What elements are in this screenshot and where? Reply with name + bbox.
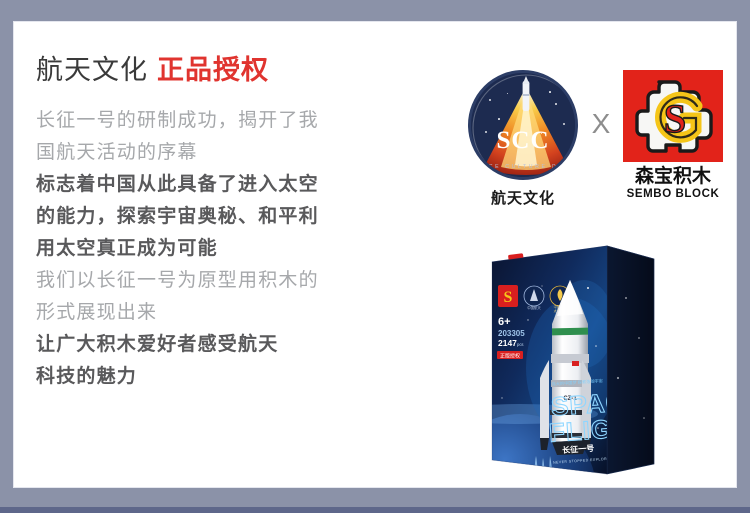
page-title-main: 航天文化	[36, 55, 148, 85]
bottom-band	[0, 507, 750, 513]
scc-monogram: SCC	[471, 127, 575, 155]
box-item-no: 203305	[498, 329, 525, 338]
sembo-logo: S 森宝积木 SEMBO BLOCK	[614, 70, 732, 200]
text-column: 航天文化正品授权 长征一号的研制成功，揭开了我 国航天活动的序幕 标志着中国从此…	[36, 54, 436, 393]
product-box-image: SPACE FLIGHT	[476, 228, 671, 490]
outer-frame: 航天文化正品授权 长征一号的研制成功，揭开了我 国航天活动的序幕 标志着中国从此…	[0, 0, 750, 513]
paragraph-line: 科技的魅力	[36, 361, 436, 393]
scc-caption: 航天文化	[464, 187, 582, 208]
sembo-name-cn: 森宝积木	[614, 167, 732, 187]
paragraph-line: 让广大积木爱好者感受航天	[36, 329, 436, 361]
sembo-name-en: SEMBO BLOCK	[614, 188, 732, 200]
box-authorized-badge: 正版授权	[500, 352, 520, 359]
product-box-svg: SPACE FLIGHT	[476, 228, 671, 490]
scc-emblem-icon: SCC SPACE CULTURE OF CHINA	[468, 70, 578, 180]
paragraph-2: 标志着中国从此具备了进入太空 的能力，探索宇宙奥秘、和平利 用太空真正成为可能	[36, 169, 436, 265]
paragraph-line: 标志着中国从此具备了进入太空	[36, 169, 436, 201]
paragraph-line: 形式展现出来	[36, 297, 436, 329]
logo-row: SCC SPACE CULTURE OF CHINA 航天文化 X	[454, 70, 739, 220]
paragraph-4: 让广大积木爱好者感受航天 科技的魅力	[36, 329, 436, 393]
logo-separator-x: X	[585, 108, 617, 140]
sembo-brick-icon: S	[623, 70, 723, 162]
paragraph-line: 国航天活动的序幕	[36, 137, 436, 169]
box-side-face	[607, 246, 654, 474]
paragraph-line: 长征一号的研制成功，揭开了我	[36, 105, 436, 137]
page-title-accent: 正品授权	[157, 55, 269, 85]
svg-text:中国航天: 中国航天	[527, 305, 541, 310]
scc-ring-text: SPACE CULTURE OF CHINA	[471, 164, 575, 170]
content-panel: 航天文化正品授权 长征一号的研制成功，揭开了我 国航天活动的序幕 标志着中国从此…	[14, 22, 736, 487]
paragraph-line: 我们以长征一号为原型用积木的	[36, 265, 436, 297]
svg-text:S: S	[504, 289, 513, 306]
box-piece-count: 2147	[498, 338, 517, 348]
paragraph-line: 用太空真正成为可能	[36, 233, 436, 265]
page-title: 航天文化正品授权	[36, 54, 436, 88]
scc-logo: SCC SPACE CULTURE OF CHINA 航天文化	[464, 70, 582, 208]
svg-text:S: S	[664, 96, 686, 141]
box-piece-unit: pcs	[517, 342, 524, 347]
paragraph-3: 我们以长征一号为原型用积木的 形式展现出来	[36, 265, 436, 329]
paragraph-line: 的能力，探索宇宙奥秘、和平利	[36, 201, 436, 233]
paragraph-1: 长征一号的研制成功，揭开了我 国航天活动的序幕	[36, 105, 436, 169]
box-age-label: 6+	[498, 316, 511, 328]
